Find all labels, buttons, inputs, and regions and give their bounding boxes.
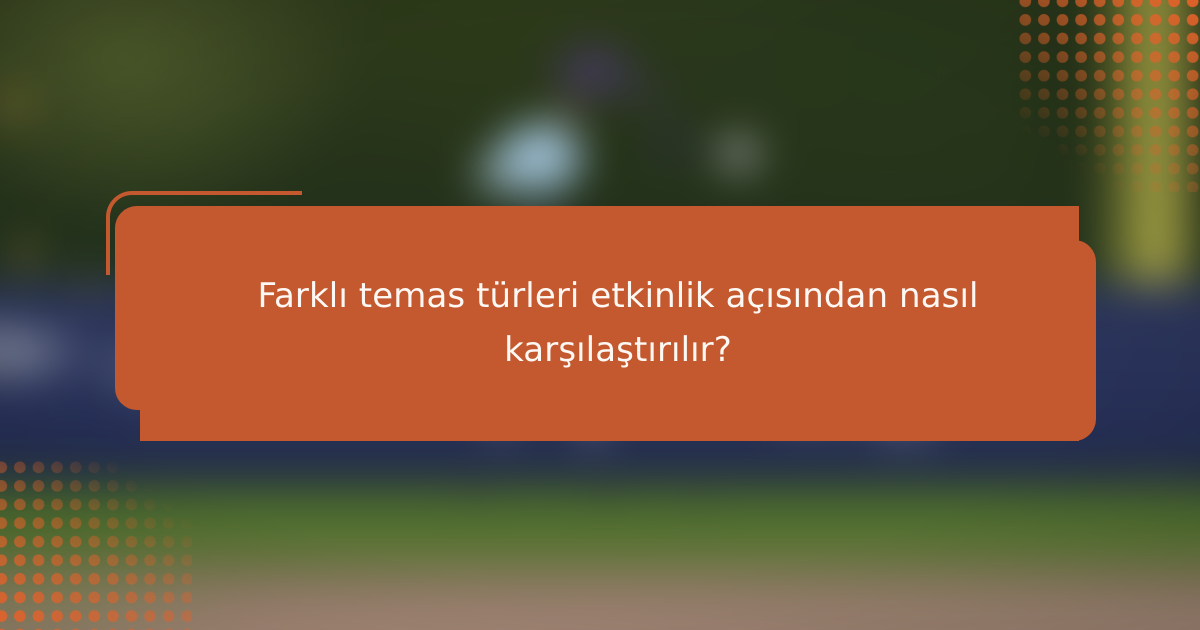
top-right-dot-grid — [1016, 0, 1200, 192]
social-card-canvas: Farklı temas türleri etkinlik açısından … — [0, 0, 1200, 630]
bottom-left-dot-grid — [0, 458, 192, 630]
headline-text: Farklı temas türleri etkinlik açısından … — [140, 206, 1096, 441]
